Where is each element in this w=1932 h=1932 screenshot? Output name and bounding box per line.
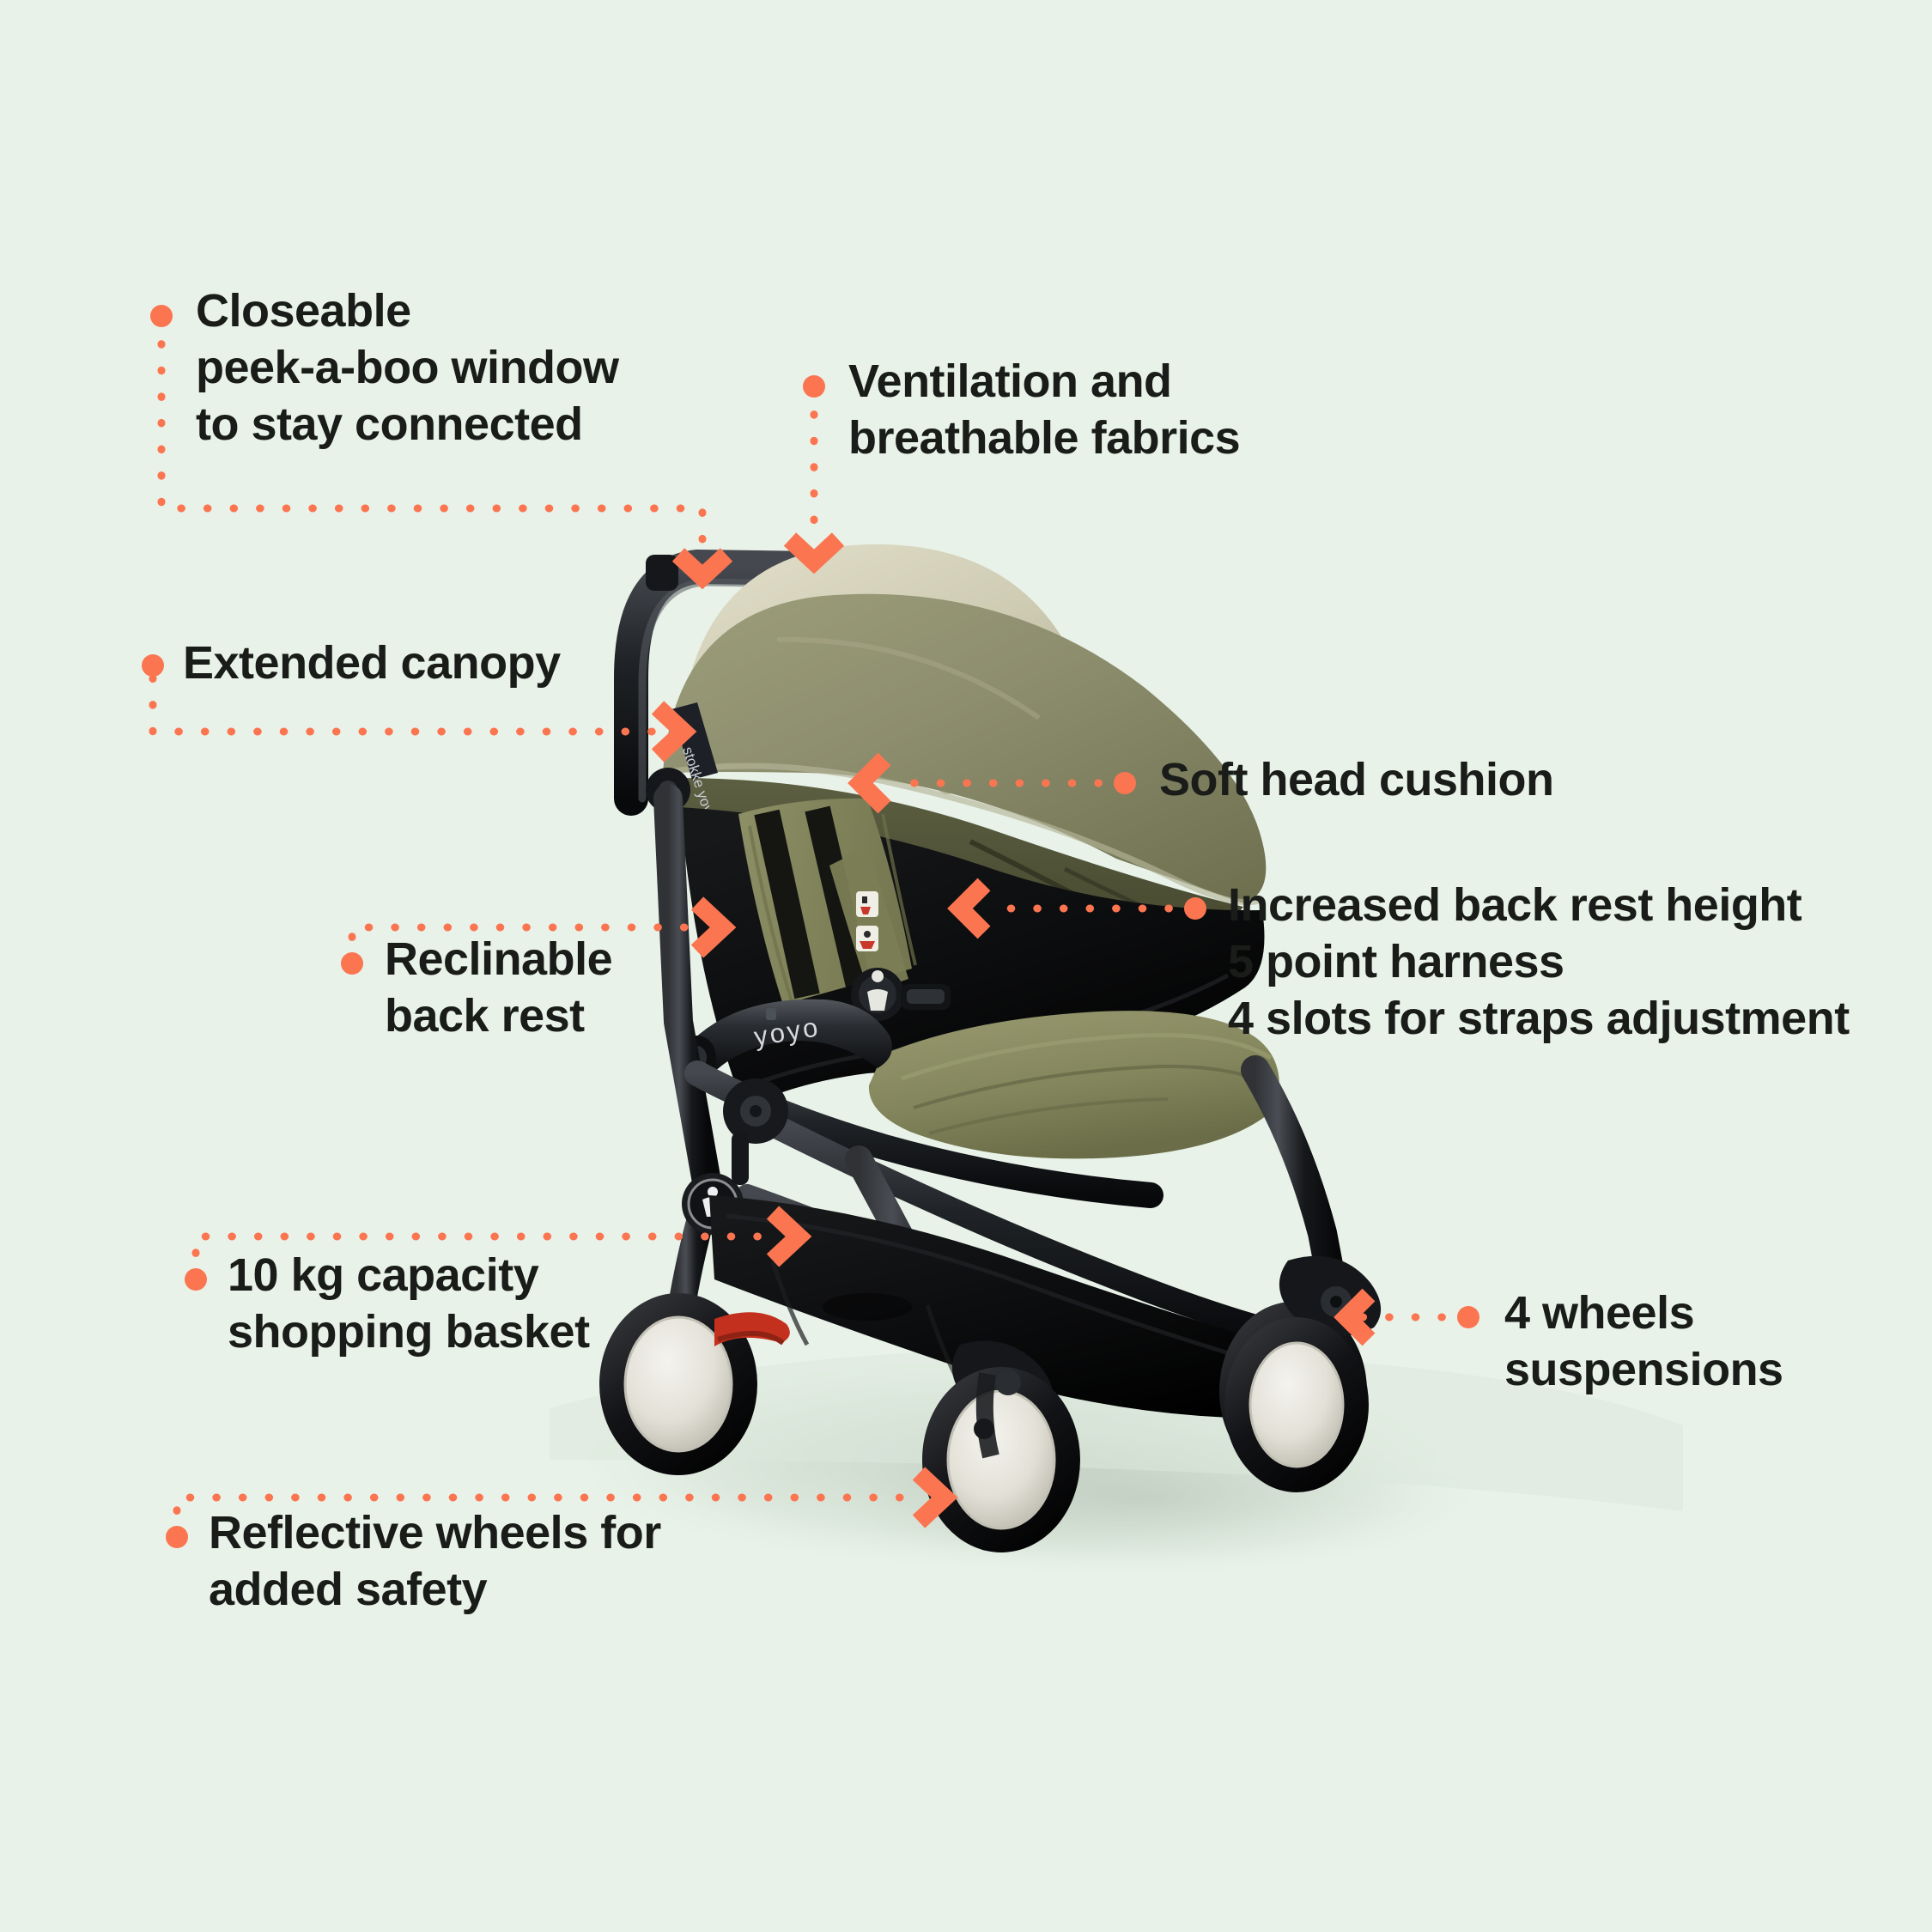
chevron-left-icon [860,759,884,807]
callout-label-wheels-suspensions: 4 wheels suspensions [1504,1285,1783,1399]
callout-label-peek-a-boo-window: Closeable peek-a-boo window to stay conn… [196,283,619,453]
bullet-dot [166,1526,188,1548]
chevron-right-icon [919,1473,945,1522]
callout-label-ventilation: Ventilation and breathable fabrics [848,354,1240,467]
bullet-dot [150,305,173,327]
chevron-right-icon [658,708,683,756]
bullet-dot [142,654,164,677]
callout-label-reflective-wheels: Reflective wheels for added safety [209,1505,661,1619]
bullet-dot [803,375,825,398]
callout-label-soft-head-cushion: Soft head cushion [1159,752,1554,809]
leader-soft-head-cushion [860,759,1125,807]
chevron-down-icon [790,539,838,562]
bullet-dot [1184,897,1206,920]
infographic-canvas: stokke yoyo [0,0,1932,1932]
callout-label-extended-canopy: Extended canopy [183,635,561,692]
callout-label-back-rest-height: Increased back rest height 5 point harne… [1228,878,1850,1048]
chevron-left-icon [960,884,984,933]
bullet-dot [1457,1306,1479,1328]
callout-label-reclinable-back-rest: Reclinable back rest [385,932,612,1045]
bullet-dot [1114,772,1136,794]
chevron-down-icon [678,555,726,577]
leader-wheels-suspensions [1346,1295,1468,1340]
leader-ventilation [790,388,838,562]
bullet-dot [341,952,363,975]
leader-back-rest-height [960,884,1195,933]
callout-label-shopping-basket: 10 kg capacity shopping basket [228,1248,590,1361]
bullet-dot [185,1268,207,1291]
chevron-right-icon [773,1212,799,1261]
chevron-right-icon [697,903,723,951]
